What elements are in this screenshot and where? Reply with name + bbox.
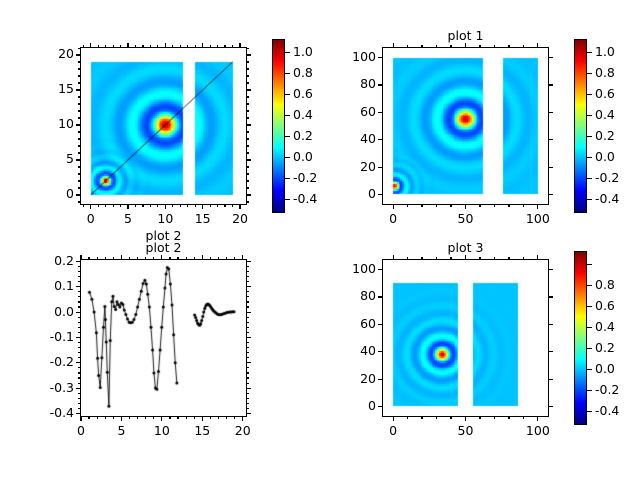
ytick[interactable]: [78, 403, 80, 404]
ytick-inner[interactable]: [247, 173, 249, 174]
colorbar-tick-label[interactable]: 0.4: [293, 109, 313, 122]
ytick-inner[interactable]: [247, 301, 249, 302]
ytick[interactable]: [78, 296, 80, 297]
colorbar-tick[interactable]: [587, 52, 592, 53]
ytick-label[interactable]: 0: [368, 188, 376, 201]
xtick-top[interactable]: [202, 43, 203, 47]
colorbar-tick[interactable]: [587, 264, 592, 265]
ytick-inner[interactable]: [247, 393, 249, 394]
xtick[interactable]: [195, 205, 196, 207]
xtick[interactable]: [135, 205, 136, 207]
xtick[interactable]: [113, 417, 114, 419]
ytick-label[interactable]: -0.3: [50, 382, 74, 395]
ytick[interactable]: [76, 362, 80, 363]
colorbar-tick[interactable]: [587, 178, 592, 179]
xtick[interactable]: [88, 417, 89, 419]
ytick-inner[interactable]: [247, 327, 249, 328]
colorbar-tick-label[interactable]: 1.0: [595, 46, 615, 59]
ytick[interactable]: [78, 173, 80, 174]
ytick[interactable]: [76, 194, 80, 195]
xtick-top[interactable]: [494, 257, 495, 259]
ytick-inner[interactable]: [549, 84, 553, 85]
ytick-label[interactable]: 20: [58, 48, 74, 61]
xtick[interactable]: [120, 205, 121, 207]
xtick-top[interactable]: [150, 45, 151, 47]
ytick[interactable]: [76, 54, 80, 55]
ytick-label[interactable]: 5: [66, 153, 74, 166]
ytick[interactable]: [378, 112, 382, 113]
ytick[interactable]: [78, 291, 80, 292]
xtick-top[interactable]: [226, 257, 227, 259]
ytick-inner[interactable]: [247, 403, 249, 404]
xtick-top[interactable]: [161, 255, 162, 259]
xtick-top[interactable]: [407, 257, 408, 259]
xtick[interactable]: [165, 205, 166, 209]
colorbar-tick-label[interactable]: 0.2: [595, 342, 615, 355]
ytick-inner[interactable]: [247, 281, 249, 282]
xtick-top[interactable]: [393, 43, 394, 47]
colorbar-tick-label[interactable]: 0.0: [595, 151, 615, 164]
ytick-inner[interactable]: [247, 296, 249, 297]
colorbar-tick-label[interactable]: -0.4: [293, 193, 317, 206]
ytick-label[interactable]: 15: [58, 83, 74, 96]
xtick[interactable]: [129, 417, 130, 419]
xtick[interactable]: [202, 205, 203, 209]
ytick[interactable]: [78, 48, 80, 49]
ytick-inner[interactable]: [247, 286, 251, 287]
ytick-label[interactable]: 0.0: [54, 306, 74, 319]
ytick[interactable]: [76, 159, 80, 160]
xtick[interactable]: [180, 205, 181, 207]
ytick-label[interactable]: 10: [58, 118, 74, 131]
ytick[interactable]: [76, 89, 80, 90]
ytick[interactable]: [78, 110, 80, 111]
colorbar-tick-label[interactable]: 0.8: [293, 67, 313, 80]
colorbar-tick[interactable]: [285, 52, 290, 53]
ytick-inner[interactable]: [549, 269, 553, 270]
colorbar-tick-label[interactable]: 1.0: [293, 46, 313, 59]
ytick-inner[interactable]: [247, 332, 249, 333]
xtick[interactable]: [83, 205, 84, 207]
ytick-inner[interactable]: [247, 54, 251, 55]
plot-title-plot_bottomleft[interactable]: plot 2: [80, 241, 247, 254]
colorbar-tick[interactable]: [587, 199, 592, 200]
xtick[interactable]: [465, 417, 466, 421]
ytick-inner[interactable]: [247, 266, 249, 267]
ytick[interactable]: [78, 281, 80, 282]
ytick-inner[interactable]: [247, 61, 249, 62]
colorbar-tick[interactable]: [587, 157, 592, 158]
xtick-top[interactable]: [187, 45, 188, 47]
xtick-label[interactable]: 20: [215, 213, 265, 226]
xtick[interactable]: [508, 205, 509, 207]
colorbar-tick-label[interactable]: 0.6: [595, 88, 615, 101]
xtick-top[interactable]: [234, 257, 235, 259]
colorbar-tick[interactable]: [587, 348, 592, 349]
ytick-inner[interactable]: [549, 139, 553, 140]
ytick-inner[interactable]: [247, 271, 249, 272]
ytick-label[interactable]: -0.2: [50, 356, 74, 369]
xtick[interactable]: [523, 205, 524, 207]
xtick[interactable]: [172, 205, 173, 207]
xtick-top[interactable]: [479, 257, 480, 259]
xtick[interactable]: [157, 205, 158, 207]
axes-plot_bottomleft[interactable]: [80, 259, 247, 417]
ytick-inner[interactable]: [247, 352, 249, 353]
xtick-top[interactable]: [537, 255, 538, 259]
xtick[interactable]: [90, 205, 91, 209]
ytick-inner[interactable]: [247, 367, 249, 368]
colorbar-tick-label[interactable]: 0.6: [595, 300, 615, 313]
xtick[interactable]: [421, 205, 422, 207]
xtick-top[interactable]: [194, 257, 195, 259]
colorbar-tick[interactable]: [587, 136, 592, 137]
xtick[interactable]: [226, 417, 227, 419]
ytick-inner[interactable]: [247, 322, 249, 323]
ytick-label[interactable]: 0.1: [54, 280, 74, 293]
xtick-top[interactable]: [232, 45, 233, 47]
xtick-top[interactable]: [421, 45, 422, 47]
xtick[interactable]: [80, 417, 81, 421]
xtick-top[interactable]: [242, 255, 243, 259]
xtick[interactable]: [177, 417, 178, 419]
ytick[interactable]: [78, 327, 80, 328]
ytick[interactable]: [378, 194, 382, 195]
ytick[interactable]: [78, 61, 80, 62]
ytick-label[interactable]: 40: [360, 133, 376, 146]
xtick-top[interactable]: [537, 43, 538, 47]
ytick-inner[interactable]: [549, 324, 553, 325]
ytick-inner[interactable]: [247, 342, 249, 343]
ytick-inner[interactable]: [247, 68, 249, 69]
colorbar-tick-label[interactable]: 0.0: [293, 151, 313, 164]
xtick[interactable]: [537, 205, 538, 209]
xtick-top[interactable]: [494, 45, 495, 47]
xtick[interactable]: [186, 417, 187, 419]
xtick-top[interactable]: [157, 45, 158, 47]
ytick-label[interactable]: 100: [352, 263, 376, 276]
xtick[interactable]: [187, 205, 188, 207]
xtick-top[interactable]: [180, 45, 181, 47]
axes-plot_topleft[interactable]: [80, 47, 247, 205]
xtick-top[interactable]: [90, 43, 91, 47]
xtick-top[interactable]: [137, 257, 138, 259]
ytick-label[interactable]: 0: [66, 188, 74, 201]
ytick-inner[interactable]: [247, 347, 249, 348]
ytick-inner[interactable]: [549, 112, 553, 113]
ytick[interactable]: [78, 96, 80, 97]
ytick[interactable]: [78, 201, 80, 202]
ytick[interactable]: [378, 269, 382, 270]
xtick-top[interactable]: [218, 257, 219, 259]
ytick[interactable]: [78, 266, 80, 267]
xtick-top[interactable]: [142, 45, 143, 47]
ytick-inner[interactable]: [247, 398, 249, 399]
xtick-label[interactable]: 100: [513, 425, 563, 438]
ytick-inner[interactable]: [549, 57, 553, 58]
xtick-top[interactable]: [80, 255, 81, 259]
colorbar-tick-label[interactable]: 0.2: [595, 130, 615, 143]
ytick-inner[interactable]: [247, 362, 251, 363]
axes-plot_bottomright[interactable]: [382, 259, 549, 417]
axes-plot_topright[interactable]: [382, 47, 549, 205]
ytick-inner[interactable]: [247, 276, 249, 277]
xtick-top[interactable]: [508, 45, 509, 47]
xtick[interactable]: [121, 417, 122, 421]
ytick[interactable]: [78, 271, 80, 272]
ytick[interactable]: [78, 103, 80, 104]
ytick[interactable]: [78, 117, 80, 118]
xtick[interactable]: [194, 417, 195, 419]
xtick[interactable]: [494, 417, 495, 419]
colorbar-plot_topleft[interactable]: [272, 39, 285, 213]
xtick[interactable]: [169, 417, 170, 419]
ytick[interactable]: [78, 301, 80, 302]
xtick-top[interactable]: [217, 45, 218, 47]
ytick-inner[interactable]: [247, 138, 249, 139]
xtick-top[interactable]: [145, 257, 146, 259]
ytick[interactable]: [378, 84, 382, 85]
ytick-inner[interactable]: [247, 337, 251, 338]
xtick[interactable]: [210, 205, 211, 207]
ytick-label[interactable]: 20: [360, 373, 376, 386]
xtick-label[interactable]: 0: [368, 425, 418, 438]
ytick[interactable]: [76, 261, 80, 262]
ytick[interactable]: [378, 351, 382, 352]
colorbar-tick[interactable]: [285, 94, 290, 95]
xtick[interactable]: [393, 417, 394, 421]
xtick[interactable]: [127, 205, 128, 209]
xtick-top[interactable]: [97, 257, 98, 259]
xtick[interactable]: [537, 417, 538, 421]
ytick[interactable]: [78, 367, 80, 368]
xtick-top[interactable]: [407, 45, 408, 47]
xtick-top[interactable]: [195, 45, 196, 47]
xtick[interactable]: [421, 417, 422, 419]
ytick[interactable]: [78, 82, 80, 83]
colorbar-plot_topright[interactable]: [574, 39, 587, 213]
ytick[interactable]: [378, 406, 382, 407]
ytick-inner[interactable]: [247, 408, 249, 409]
xtick[interactable]: [105, 205, 106, 207]
xtick-top[interactable]: [508, 257, 509, 259]
xtick[interactable]: [224, 205, 225, 207]
ytick[interactable]: [76, 337, 80, 338]
ytick[interactable]: [76, 124, 80, 125]
ytick-inner[interactable]: [247, 383, 249, 384]
colorbar-tick[interactable]: [285, 115, 290, 116]
xtick-top[interactable]: [465, 255, 466, 259]
ytick[interactable]: [78, 317, 80, 318]
ytick[interactable]: [78, 383, 80, 384]
ytick[interactable]: [78, 131, 80, 132]
ytick[interactable]: [78, 180, 80, 181]
ytick-inner[interactable]: [247, 194, 251, 195]
xtick-top[interactable]: [393, 255, 394, 259]
xtick[interactable]: [161, 417, 162, 421]
xtick-top[interactable]: [421, 257, 422, 259]
colorbar-tick[interactable]: [285, 157, 290, 158]
ytick-label[interactable]: 60: [360, 106, 376, 119]
colorbar-tick[interactable]: [285, 73, 290, 74]
xtick-label[interactable]: 20: [218, 425, 268, 438]
xtick-top[interactable]: [210, 257, 211, 259]
ytick-label[interactable]: -0.1: [50, 331, 74, 344]
colorbar-tick-label[interactable]: -0.2: [595, 384, 619, 397]
colorbar-tick[interactable]: [587, 390, 592, 391]
xtick[interactable]: [239, 205, 240, 209]
colorbar-tick-label[interactable]: 0.0: [595, 363, 615, 376]
ytick-inner[interactable]: [247, 145, 249, 146]
colorbar-plot_bottomright[interactable]: [574, 251, 587, 425]
xtick-top[interactable]: [121, 255, 122, 259]
ytick[interactable]: [76, 388, 80, 389]
ytick-inner[interactable]: [247, 117, 249, 118]
ytick-inner[interactable]: [247, 75, 249, 76]
xtick-top[interactable]: [135, 45, 136, 47]
colorbar-tick[interactable]: [285, 199, 290, 200]
xtick[interactable]: [436, 417, 437, 419]
xtick[interactable]: [450, 205, 451, 207]
xtick-top[interactable]: [105, 257, 106, 259]
ytick-label[interactable]: 0: [368, 400, 376, 413]
xtick[interactable]: [217, 205, 218, 207]
ytick-inner[interactable]: [247, 413, 251, 414]
ytick-inner[interactable]: [247, 180, 249, 181]
plot-title-plot_bottomright[interactable]: plot 3: [382, 241, 549, 254]
xtick-top[interactable]: [165, 43, 166, 47]
xtick[interactable]: [97, 417, 98, 419]
xtick[interactable]: [98, 205, 99, 207]
plot-title-plot_topright[interactable]: plot 1: [382, 29, 549, 42]
ytick-inner[interactable]: [247, 388, 251, 389]
xtick-top[interactable]: [450, 257, 451, 259]
ytick[interactable]: [378, 379, 382, 380]
xtick-top[interactable]: [127, 43, 128, 47]
xtick-top[interactable]: [523, 257, 524, 259]
xtick-top[interactable]: [172, 45, 173, 47]
xtick[interactable]: [242, 417, 243, 421]
xtick[interactable]: [479, 205, 480, 207]
xtick-top[interactable]: [210, 45, 211, 47]
xtick-label[interactable]: 50: [441, 425, 491, 438]
ytick-inner[interactable]: [247, 317, 249, 318]
ytick-label[interactable]: 40: [360, 345, 376, 358]
ytick[interactable]: [78, 377, 80, 378]
xtick[interactable]: [150, 205, 151, 207]
xtick[interactable]: [494, 205, 495, 207]
colorbar-tick-label[interactable]: 0.8: [595, 67, 615, 80]
ytick-inner[interactable]: [247, 291, 249, 292]
ytick-inner[interactable]: [247, 96, 249, 97]
colorbar-tick-label[interactable]: 0.8: [595, 279, 615, 292]
ytick-inner[interactable]: [247, 110, 249, 111]
xtick[interactable]: [436, 205, 437, 207]
xtick-top[interactable]: [450, 45, 451, 47]
xtick-top[interactable]: [83, 45, 84, 47]
ytick-inner[interactable]: [247, 201, 249, 202]
ytick[interactable]: [78, 393, 80, 394]
colorbar-tick[interactable]: [285, 136, 290, 137]
ytick-inner[interactable]: [549, 351, 553, 352]
colorbar-tick[interactable]: [587, 115, 592, 116]
ytick[interactable]: [78, 352, 80, 353]
ytick[interactable]: [78, 166, 80, 167]
xtick-label[interactable]: 50: [441, 213, 491, 226]
ytick[interactable]: [78, 306, 80, 307]
xtick-top[interactable]: [479, 45, 480, 47]
colorbar-tick[interactable]: [587, 327, 592, 328]
xtick-top[interactable]: [436, 257, 437, 259]
ytick-inner[interactable]: [247, 261, 251, 262]
xtick-top[interactable]: [105, 45, 106, 47]
xtick-top[interactable]: [177, 257, 178, 259]
ytick[interactable]: [378, 167, 382, 168]
ytick-label[interactable]: 60: [360, 318, 376, 331]
xtick[interactable]: [407, 205, 408, 207]
xtick-top[interactable]: [239, 43, 240, 47]
xtick[interactable]: [450, 417, 451, 419]
ytick[interactable]: [78, 152, 80, 153]
xtick[interactable]: [407, 417, 408, 419]
ytick-inner[interactable]: [247, 357, 249, 358]
ytick[interactable]: [78, 332, 80, 333]
ytick-inner[interactable]: [549, 167, 553, 168]
xtick-top[interactable]: [153, 257, 154, 259]
xtick-top[interactable]: [465, 43, 466, 47]
colorbar-tick[interactable]: [285, 178, 290, 179]
xtick-top[interactable]: [98, 45, 99, 47]
xtick[interactable]: [137, 417, 138, 419]
ytick[interactable]: [78, 372, 80, 373]
ytick-inner[interactable]: [247, 131, 249, 132]
xtick[interactable]: [508, 417, 509, 419]
xtick[interactable]: [210, 417, 211, 419]
ytick-label[interactable]: 100: [352, 51, 376, 64]
ytick-inner[interactable]: [549, 406, 553, 407]
ytick-inner[interactable]: [247, 166, 249, 167]
colorbar-tick-label[interactable]: 0.6: [293, 88, 313, 101]
colorbar-tick-label[interactable]: -0.2: [595, 172, 619, 185]
colorbar-tick-label[interactable]: 0.4: [595, 109, 615, 122]
colorbar-tick-label[interactable]: -0.4: [595, 193, 619, 206]
xtick[interactable]: [145, 417, 146, 419]
xtick-top[interactable]: [224, 45, 225, 47]
ytick[interactable]: [378, 57, 382, 58]
colorbar-tick[interactable]: [587, 306, 592, 307]
ytick[interactable]: [78, 342, 80, 343]
xtick[interactable]: [153, 417, 154, 419]
ytick-inner[interactable]: [247, 48, 249, 49]
colorbar-tick[interactable]: [587, 411, 592, 412]
ytick-inner[interactable]: [549, 379, 553, 380]
ytick-inner[interactable]: [247, 89, 251, 90]
xtick-top[interactable]: [113, 45, 114, 47]
xtick[interactable]: [393, 205, 394, 209]
xtick-label[interactable]: 100: [513, 213, 563, 226]
xtick[interactable]: [105, 417, 106, 419]
ytick[interactable]: [78, 408, 80, 409]
ytick-label[interactable]: -0.4: [50, 407, 74, 420]
xtick[interactable]: [113, 205, 114, 207]
xtick-label[interactable]: 0: [368, 213, 418, 226]
xtick-top[interactable]: [436, 45, 437, 47]
colorbar-tick[interactable]: [587, 94, 592, 95]
colorbar-tick-label[interactable]: -0.2: [293, 172, 317, 185]
xtick-top[interactable]: [169, 257, 170, 259]
ytick-inner[interactable]: [247, 103, 249, 104]
ytick-inner[interactable]: [247, 306, 249, 307]
